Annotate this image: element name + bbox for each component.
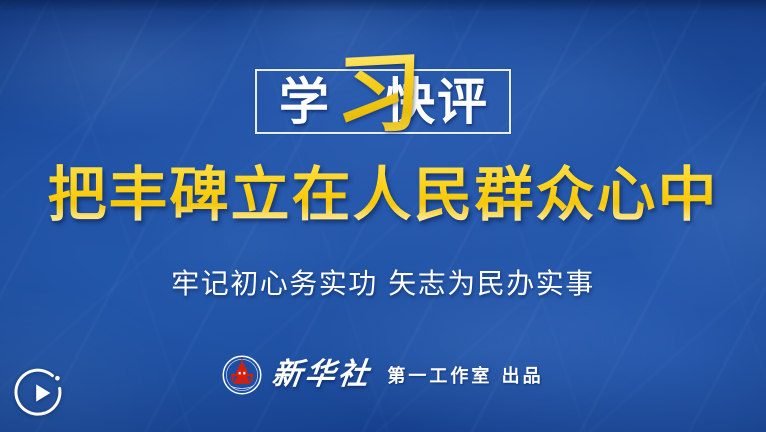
badge-char-1: 学 <box>279 77 329 127</box>
video-poster-stage: 学 快 评 习 把丰碑立在人民群众心中 牢记初心务实功 矢志为民办实事 <box>0 0 766 432</box>
agency-name: 新华社 <box>271 360 374 390</box>
attribution-row: 新华社 第一工作室 出品 <box>0 355 766 395</box>
page-subtitle: 牢记初心务实功 矢志为民办实事 <box>0 262 766 302</box>
badge-char-2-accent: 习 <box>335 50 422 141</box>
program-badge: 学 快 评 习 <box>255 69 511 134</box>
page-title: 把丰碑立在人民群众心中 <box>0 163 766 227</box>
badge-char-4: 评 <box>437 77 487 127</box>
play-button[interactable] <box>14 366 68 420</box>
xinhua-emblem-icon <box>222 355 262 395</box>
studio-credit: 第一工作室 出品 <box>387 368 543 386</box>
play-circle-icon[interactable] <box>14 366 68 420</box>
